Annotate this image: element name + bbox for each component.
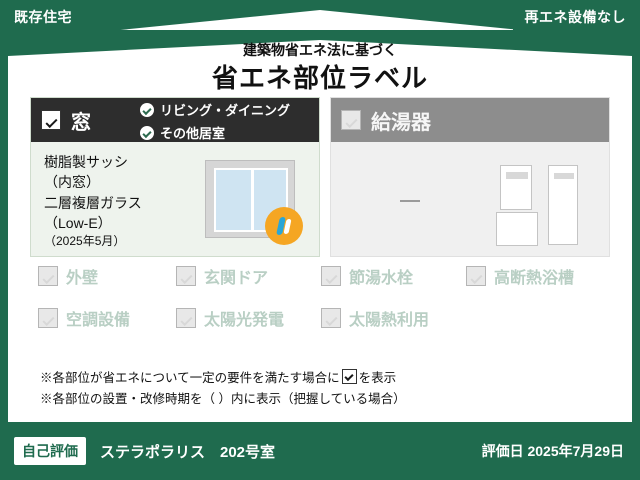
item-label: 節湯水栓 <box>349 264 413 288</box>
window-spec-date: （2025年5月） <box>44 233 142 250</box>
item-insulated-bathtub[interactable]: 高断熱浴槽 <box>466 264 574 288</box>
window-spec-line-4: （Low-E） <box>44 213 142 233</box>
panel-water-heater-title: 給湯器 <box>371 106 431 135</box>
energy-label-document: 既存住宅 再エネ設備なし 建築物省エネ法に基づく 省エネ部位ラベル 窓 リビング… <box>0 0 640 480</box>
document-subtitle: 建築物省エネ法に基づく <box>0 40 640 60</box>
window-room-list: リビング・ダイニング その他居室 <box>140 100 290 142</box>
window-spec-line-2: （内窓） <box>44 172 142 192</box>
window-spec-text: 樹脂製サッシ （内窓） 二層複層ガラス （Low-E） （2025年5月） <box>44 152 142 251</box>
item-water-saving-faucet[interactable]: 節湯水栓 <box>321 264 466 288</box>
solar-thermal-checkbox[interactable] <box>321 308 341 328</box>
items-row: 空調設備 太陽光発電 太陽熱利用 <box>38 306 608 330</box>
item-label: 空調設備 <box>66 306 130 330</box>
check-circle-icon <box>140 126 154 140</box>
item-label: 太陽熱利用 <box>349 306 429 330</box>
item-solar-thermal[interactable]: 太陽熱利用 <box>321 306 429 330</box>
room-label: その他居室 <box>160 123 225 142</box>
panel-window-title: 窓 <box>71 106 91 135</box>
water-saving-faucet-checkbox[interactable] <box>321 266 341 286</box>
tab-existing-housing-label: 既存住宅 <box>14 7 72 27</box>
tab-no-renewable-equipment: 再エネ設備なし <box>513 0 640 34</box>
item-exterior-wall[interactable]: 外壁 <box>38 264 176 288</box>
page-title: 省エネ部位ラベル <box>0 58 640 95</box>
water-heater-value <box>400 200 420 202</box>
window-spec-line-3: 二層複層ガラス <box>44 193 142 213</box>
item-label: 高断熱浴槽 <box>494 264 574 288</box>
property-name: ステラポラリス 202号室 <box>100 441 275 462</box>
evaluation-date: 評価日 2025年7月29日 <box>482 441 624 461</box>
badge-mark-icon <box>276 217 292 235</box>
water-heater-unit-illustration <box>500 165 532 210</box>
window-spec-line-1: 樹脂製サッシ <box>44 152 142 172</box>
exterior-wall-checkbox[interactable] <box>38 266 58 286</box>
window-checkbox[interactable] <box>41 110 61 130</box>
note-line-1: ※各部位が省エネについて一定の要件を満たす場合にを表示 <box>40 368 406 389</box>
note-line-1-before: ※各部位が省エネについて一定の要件を満たす場合に <box>40 371 340 385</box>
window-mullion <box>251 170 254 230</box>
air-conditioning-checkbox[interactable] <box>38 308 58 328</box>
other-items-grid: 外壁 玄関ドア 節湯水栓 高断熱浴槽 空調設備 太陽光発電 <box>38 264 608 348</box>
self-evaluation-badge: 自己評価 <box>14 437 86 465</box>
note-line-1-after: を表示 <box>359 371 397 385</box>
tab-no-renewable-equipment-label: 再エネ設備なし <box>525 7 627 27</box>
heat-pump-illustration <box>496 212 538 246</box>
entrance-door-checkbox[interactable] <box>176 266 196 286</box>
energy-saving-badge-icon <box>265 207 303 245</box>
panel-water-heater-header: 給湯器 <box>331 98 609 142</box>
insulated-bathtub-checkbox[interactable] <box>466 266 486 286</box>
water-heater-tank-illustration <box>548 165 578 245</box>
item-solar-power[interactable]: 太陽光発電 <box>176 306 321 330</box>
item-label: 外壁 <box>66 264 98 288</box>
item-label: 太陽光発電 <box>204 306 284 330</box>
solar-power-checkbox[interactable] <box>176 308 196 328</box>
room-label: リビング・ダイニング <box>160 100 290 119</box>
list-item: その他居室 <box>140 123 290 142</box>
list-item: リビング・ダイニング <box>140 100 290 119</box>
note-line-2: ※各部位の設置・改修時期を（ ）内に表示（把握している場合） <box>40 389 406 410</box>
footer-bar: 自己評価 ステラポラリス 202号室 評価日 2025年7月29日 <box>0 422 640 480</box>
item-label: 玄関ドア <box>204 264 268 288</box>
item-entrance-door[interactable]: 玄関ドア <box>176 264 321 288</box>
notes-block: ※各部位が省エネについて一定の要件を満たす場合にを表示 ※各部位の設置・改修時期… <box>40 368 406 411</box>
note-checkbox-icon <box>342 369 357 384</box>
tab-existing-housing: 既存住宅 <box>0 0 84 34</box>
water-heater-checkbox[interactable] <box>341 110 361 130</box>
item-air-conditioning[interactable]: 空調設備 <box>38 306 176 330</box>
check-circle-icon <box>140 103 154 117</box>
items-row: 外壁 玄関ドア 節湯水栓 高断熱浴槽 <box>38 264 608 288</box>
